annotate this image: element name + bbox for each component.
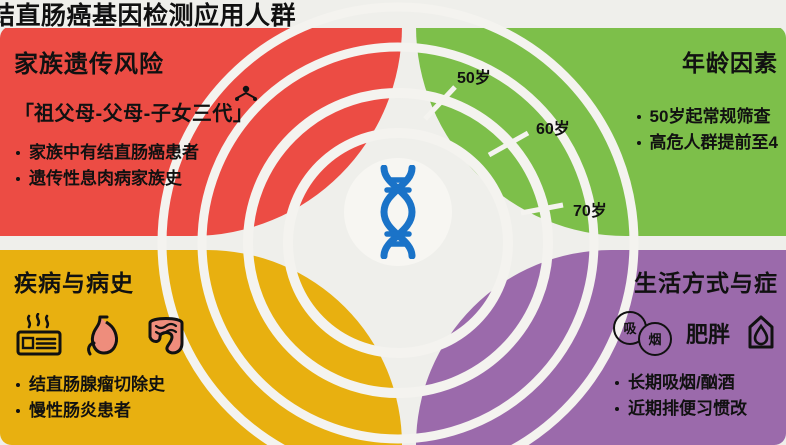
- smoking-icon: 吸 烟: [613, 311, 672, 356]
- infographic-canvas: 结直肠癌基因检测应用人群: [0, 0, 786, 445]
- page-title: 结直肠癌基因检测应用人群: [0, 0, 296, 32]
- list-item: 结直肠腺瘤切除史: [14, 372, 190, 398]
- hot-food-icon: [14, 313, 64, 359]
- obesity-label: 肥胖: [686, 317, 730, 349]
- list-item: 50岁起常规筛查: [635, 104, 778, 130]
- intestine-icon: [142, 313, 190, 359]
- family-callout-text: 祖父母-父母-子女三代: [34, 97, 233, 126]
- family-risk-title: 家族遗传风险: [14, 44, 253, 79]
- lifestyle-symbol-row: 吸 烟 肥胖: [613, 310, 778, 356]
- disease-history-title: 疾病与病史: [14, 264, 190, 298]
- panel-lifestyle-and-symptoms: 生活方式与症 吸 烟 肥胖 长期吸烟/酗酒 近期排便习惯改: [613, 264, 778, 423]
- disease-icon-row: [14, 312, 190, 360]
- list-item: 家族中有结直肠癌患者: [14, 140, 253, 166]
- quote-open-bracket: 「: [14, 97, 34, 126]
- person-icon: [235, 85, 257, 105]
- age-factor-bullets: 50岁起常规筛查 高危人群提前至4: [635, 104, 778, 157]
- stomach-icon: [82, 313, 124, 359]
- ring-label-age-70: 70岁: [573, 197, 607, 221]
- list-item: 长期吸烟/酗酒: [613, 370, 778, 396]
- family-risk-bullets: 家族中有结直肠癌患者 遗传性息肉病家族史: [14, 140, 253, 193]
- list-item: 慢性肠炎患者: [14, 398, 190, 424]
- family-callout: 「 祖父母-父母-子女三代 」: [14, 97, 253, 126]
- list-item: 遗传性息肉病家族史: [14, 166, 253, 192]
- disease-history-bullets: 结直肠腺瘤切除史 慢性肠炎患者: [14, 372, 190, 425]
- smoking-char-2: 烟: [638, 322, 672, 356]
- list-item: 高危人群提前至4: [635, 130, 778, 156]
- ring-label-age-60: 60岁: [536, 115, 570, 139]
- panel-disease-and-history: 疾病与病史: [14, 264, 190, 425]
- dna-helix-icon: [367, 165, 429, 259]
- list-item: 近期排便习惯改: [613, 396, 778, 422]
- panel-family-genetic-risk: 家族遗传风险 「 祖父母-父母-子女三代 」 家族中有结直肠癌患者 遗传性息肉病…: [14, 44, 253, 193]
- panel-age-factor: 年龄因素 50岁起常规筛查 高危人群提前至4: [635, 44, 778, 157]
- age-factor-title: 年龄因素: [635, 44, 778, 78]
- lifestyle-bullets: 长期吸烟/酗酒 近期排便习惯改: [613, 370, 778, 423]
- blood-stool-icon: [744, 313, 778, 353]
- center-hub: [344, 158, 452, 266]
- ring-label-age-50: 50岁: [457, 64, 491, 88]
- lifestyle-title: 生活方式与症: [613, 264, 778, 298]
